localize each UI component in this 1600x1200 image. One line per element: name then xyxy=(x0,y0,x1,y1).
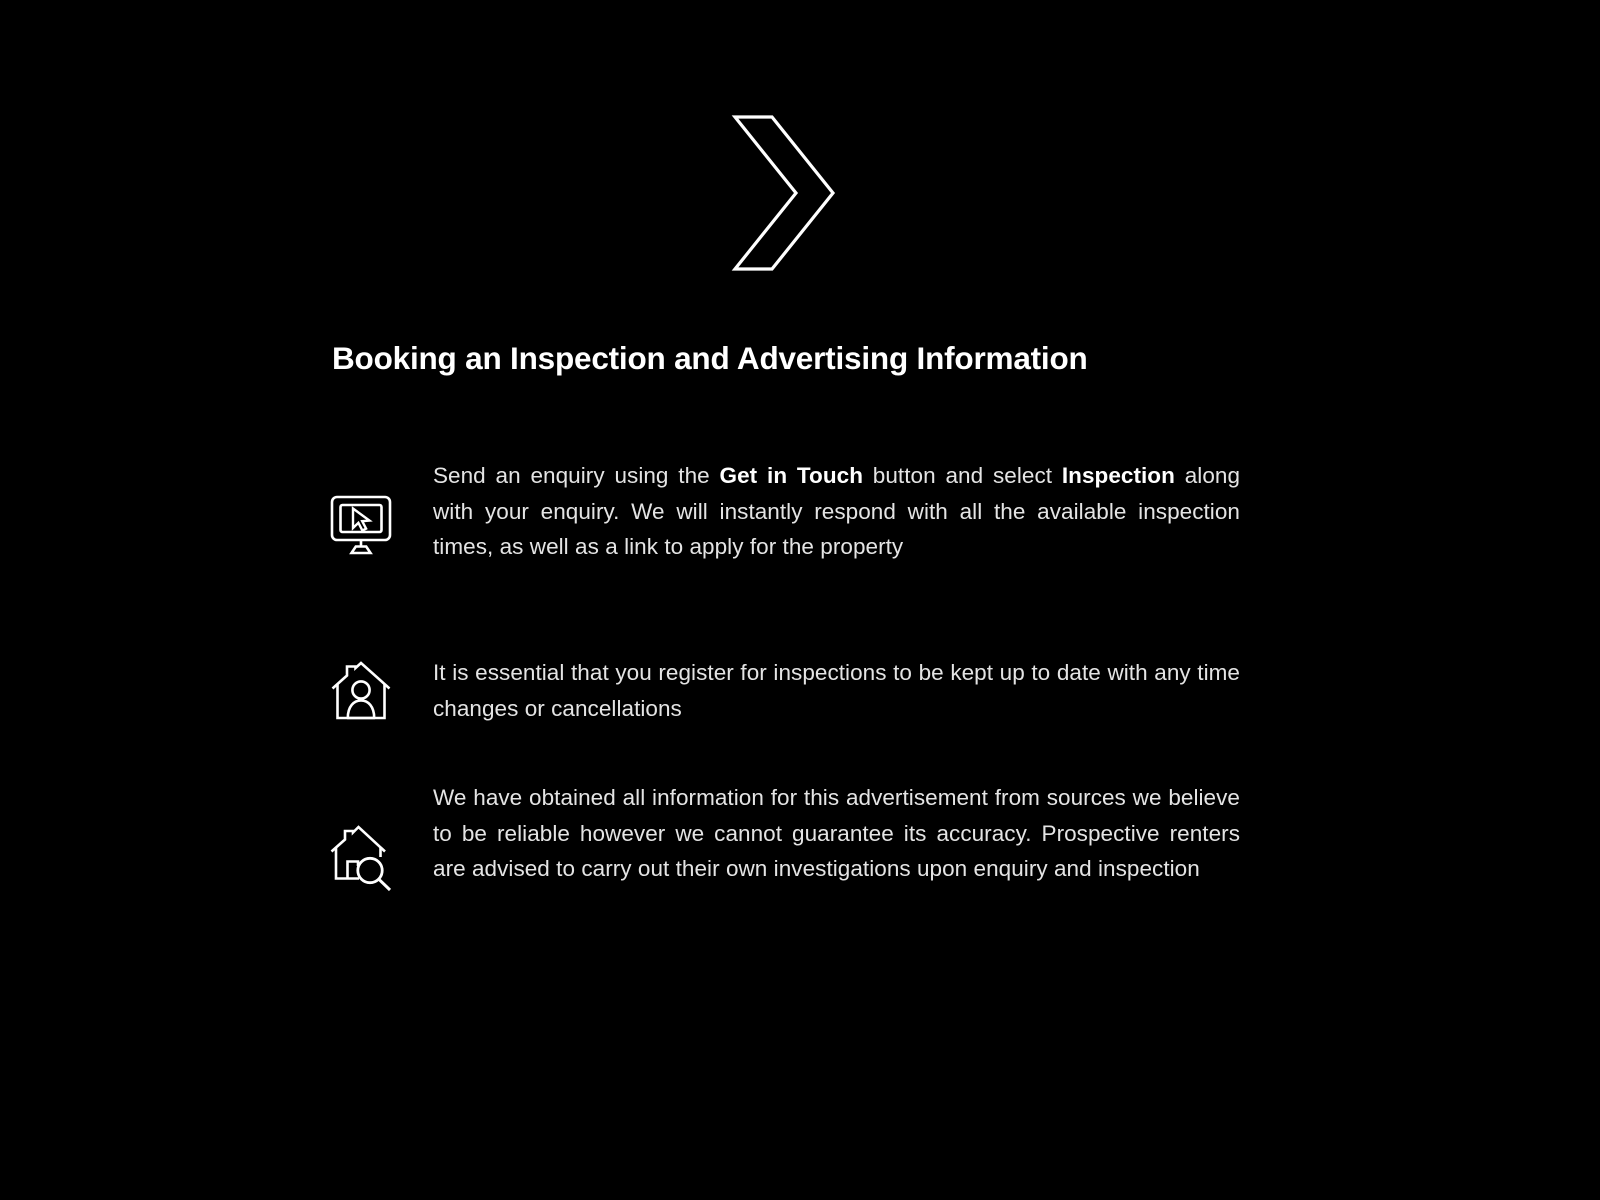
info-row-icon-cell xyxy=(325,458,433,557)
monitor-cursor-icon xyxy=(328,491,394,557)
info-row-icon-cell xyxy=(325,655,433,724)
slide-root: Booking an Inspection and Advertising In… xyxy=(0,0,1600,1200)
info-row-text: Send an enquiry using the Get in Touch b… xyxy=(433,458,1240,565)
text-segment: Send an enquiry using the xyxy=(433,463,720,488)
chevron-right-outline-icon xyxy=(729,113,839,273)
house-magnifier-icon xyxy=(328,824,398,894)
info-row-text: It is essential that you register for in… xyxy=(433,655,1240,726)
text-segment-bold: Inspection xyxy=(1062,463,1175,488)
info-row-register-inspections: It is essential that you register for in… xyxy=(325,655,1240,726)
info-row-icon-cell xyxy=(325,780,433,894)
text-segment: It is essential that you register for in… xyxy=(433,660,1240,721)
text-segment: We have obtained all information for thi… xyxy=(433,785,1240,881)
page-title: Booking an Inspection and Advertising In… xyxy=(332,339,1252,378)
info-row-text: We have obtained all information for thi… xyxy=(433,780,1240,887)
chevron-right-logo xyxy=(729,113,839,273)
info-row-booking-enquiry: Send an enquiry using the Get in Touch b… xyxy=(325,458,1240,565)
text-segment-bold: Get in Touch xyxy=(720,463,863,488)
house-person-icon xyxy=(328,658,394,724)
info-row-advertising-disclaimer: We have obtained all information for thi… xyxy=(325,780,1240,894)
text-segment: button and select xyxy=(863,463,1062,488)
